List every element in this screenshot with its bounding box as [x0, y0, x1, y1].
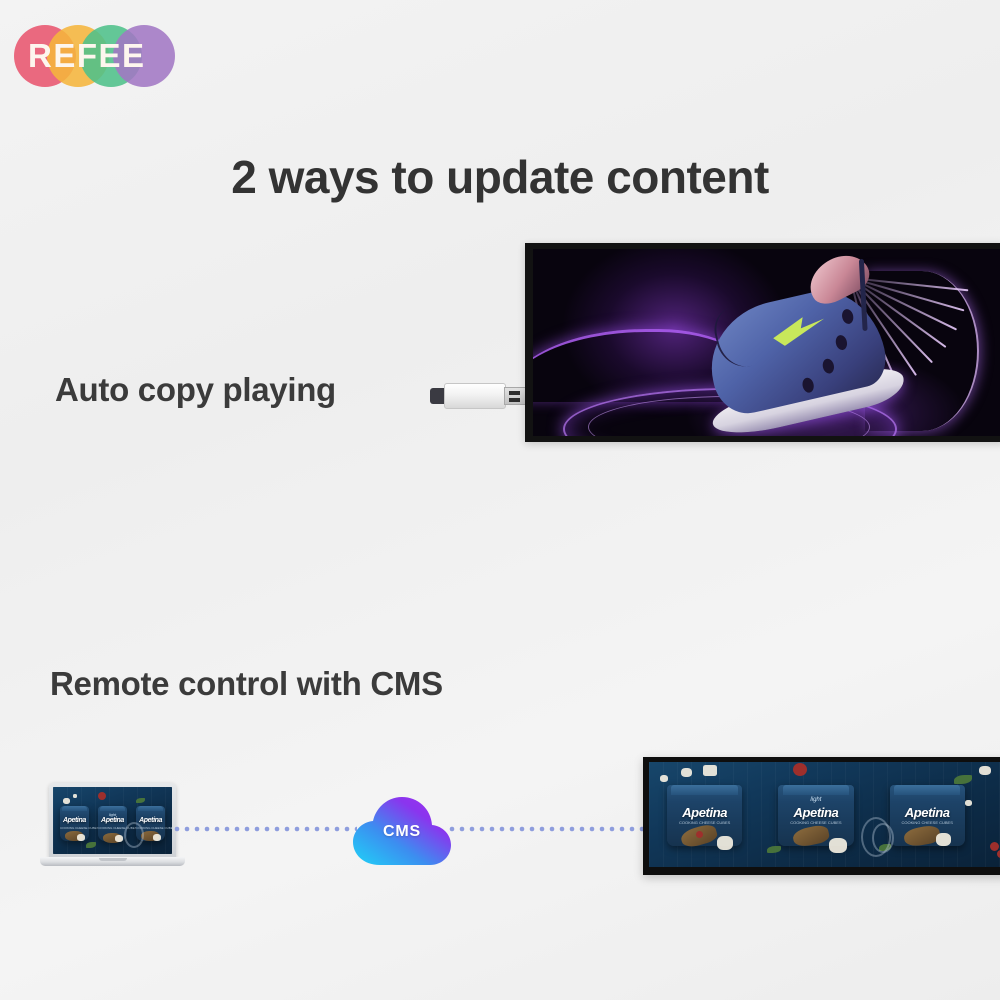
- laptop-icon: Apetina COOKING CHEESE CUBES light Apeti…: [40, 783, 185, 875]
- cloud-label: CMS: [350, 823, 454, 841]
- method-label-remote-cms: Remote control with CMS: [50, 665, 443, 703]
- apetina-advertisement-display: Apetina COOKING CHEESE CUBES light Apeti…: [643, 757, 1000, 875]
- usb-body: [444, 383, 506, 409]
- connector-cloud-to-display: [447, 826, 647, 832]
- shoe-advertisement-display: [525, 243, 1000, 442]
- laptop-lid: Apetina COOKING CHEESE CUBES light Apeti…: [49, 783, 176, 859]
- apetina-scene-small: Apetina COOKING CHEESE CUBES light Apeti…: [53, 787, 172, 854]
- product-variant: light: [778, 797, 853, 803]
- laptop-base: [40, 857, 185, 866]
- shoe-graphic: [682, 249, 913, 436]
- product-sub: COOKING CHEESE CUBES: [60, 826, 89, 830]
- product-sub: COOKING CHEESE CUBES: [890, 820, 965, 825]
- slide-canvas: REFEE 2 ways to update content Auto copy…: [0, 0, 1000, 1000]
- shoe-screen-content: [533, 249, 1000, 436]
- logo-wordmark: REFEE: [28, 39, 178, 73]
- product-sub: COOKING CHEESE CUBES: [778, 820, 853, 825]
- product-sub: COOKING CHEESE CUBES: [98, 826, 127, 830]
- product-brand: Apetina: [136, 817, 165, 824]
- page-title: 2 ways to update content: [0, 150, 1000, 204]
- method-label-auto-copy: Auto copy playing: [55, 371, 336, 409]
- usb-drive-icon: [430, 382, 530, 410]
- cloud-icon[interactable]: CMS: [350, 795, 454, 869]
- product-brand: Apetina: [890, 805, 965, 820]
- laptop-screen: Apetina COOKING CHEESE CUBES light Apeti…: [53, 787, 172, 854]
- apetina-scene-large: Apetina COOKING CHEESE CUBES light Apeti…: [649, 762, 1000, 867]
- refee-logo[interactable]: REFEE: [14, 22, 184, 90]
- product-brand: Apetina: [98, 817, 127, 824]
- connector-laptop-to-cloud: [172, 826, 357, 832]
- product-brand: Apetina: [667, 805, 742, 820]
- product-brand: Apetina: [60, 817, 89, 824]
- product-brand: Apetina: [778, 805, 853, 820]
